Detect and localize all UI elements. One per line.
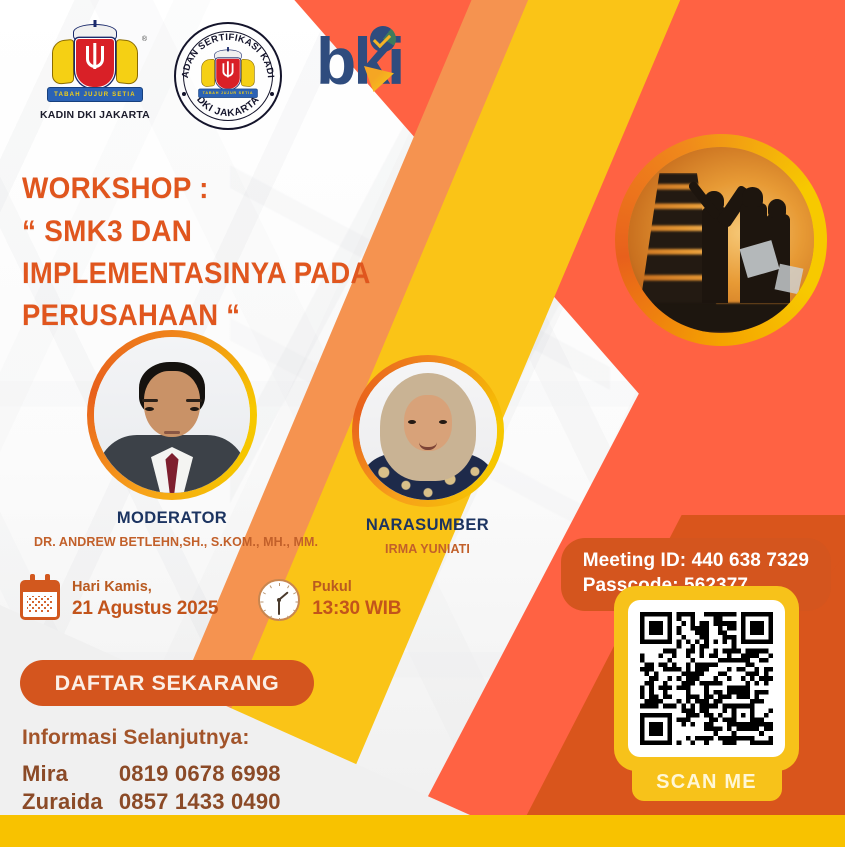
narasumber-photo <box>359 362 497 500</box>
contact-phone[interactable]: 0819 0678 6998 <box>119 760 281 788</box>
page-title: WORKSHOP : “ SMK3 DAN IMPLEMENTASINYA PA… <box>22 168 602 337</box>
clock-center-dot <box>277 598 281 602</box>
title-line-1: WORKSHOP : <box>22 168 561 211</box>
clock-tick <box>263 592 266 594</box>
narasumber-role-label: NARASUMBER <box>335 516 520 535</box>
clock-tick <box>293 609 296 611</box>
clock-tick <box>279 583 280 586</box>
contact-heading: Informasi Selanjutnya: <box>22 726 281 750</box>
date-text: Hari Kamis, 21 Agustus 2025 <box>72 578 218 622</box>
narasumber-avatar-ring <box>352 355 504 507</box>
bsk-crest-letter-u-icon <box>222 63 233 77</box>
meeting-id-line: Meeting ID: 440 638 7329 <box>583 548 809 573</box>
contact-name: Zuraida <box>22 788 119 816</box>
bki-logo: bki <box>316 28 402 94</box>
clock-tick <box>296 601 299 602</box>
moderator-eye-right <box>190 407 199 411</box>
date-value: 21 Agustus 2025 <box>72 597 218 622</box>
calendar-header-bar <box>23 583 57 592</box>
badan-sertifikasi-kadin-logo: BADAN SERTIFIKASI KADIN DKI JAKARTA TABA… <box>174 22 282 130</box>
contact-info-section: Informasi Selanjutnya: Mira 0819 0678 69… <box>22 726 281 816</box>
time-block: Pukul 13:30 WIB <box>258 578 401 622</box>
crest-letter-u-icon <box>86 46 104 68</box>
bsk-mini-crest-icon: TABAH JUJUR SETIA <box>197 48 259 100</box>
scan-me-label: SCAN ME <box>632 766 782 801</box>
table-row: Zuraida 0857 1433 0490 <box>22 788 281 816</box>
narasumber-name: IRMA YUNIATI <box>335 542 520 556</box>
clock-tick <box>263 609 266 611</box>
qr-section[interactable]: SCAN ME <box>610 586 803 801</box>
bottom-yellow-bar <box>0 815 845 847</box>
blueprint-sheet-2 <box>774 264 803 294</box>
logo-row: ® TABAH JUJUR SETIA KADIN DKI JAKARTA BA… <box>40 22 402 130</box>
contact-phone[interactable]: 0857 1433 0490 <box>119 788 281 816</box>
clock-tick <box>293 592 296 594</box>
ground-silhouette <box>628 303 814 333</box>
bsk-crest-motto-banner: TABAH JUJUR SETIA <box>198 89 258 98</box>
moderator-mouth <box>164 431 180 434</box>
clock-tick <box>270 585 272 588</box>
clock-tick <box>261 601 264 602</box>
title-line-2: “ SMK3 DAN <box>22 211 561 254</box>
moderator-avatar-ring <box>87 330 257 500</box>
time-value: 13:30 WIB <box>312 597 401 622</box>
kadin-logo-caption: KADIN DKI JAKARTA <box>40 109 150 121</box>
clock-tick <box>270 615 272 618</box>
calendar-grid <box>27 596 53 613</box>
title-line-3: IMPLEMENTASINYA PADA PERUSAHAAN “ <box>22 253 561 337</box>
qr-code-frame[interactable] <box>628 600 785 757</box>
date-label: Hari Kamis, <box>72 578 218 597</box>
moderator-role-label: MODERATOR <box>72 509 272 528</box>
kadin-crest-icon: ® TABAH JUJUR SETIA <box>45 22 145 106</box>
crest-lion-right-icon <box>116 39 138 85</box>
crest-lion-left-icon <box>52 39 74 85</box>
table-row: Mira 0819 0678 6998 <box>22 760 281 788</box>
construction-workers-photo-ring <box>615 134 827 346</box>
clock-tick <box>279 618 280 621</box>
moderator-brow-left <box>142 399 158 402</box>
moderator-card: MODERATOR DR. ANDREW BETLEHN,SH., S.KOM.… <box>72 330 272 549</box>
clock-icon <box>258 579 300 621</box>
schedule-section: Hari Kamis, 21 Agustus 2025 <box>20 578 401 622</box>
crest-shield-icon <box>75 38 115 88</box>
time-text: Pukul 13:30 WIB <box>312 578 401 622</box>
avatar <box>94 337 250 493</box>
contact-name: Mira <box>22 760 119 788</box>
construction-workers-photo <box>628 147 814 333</box>
bsk-crest-shield-icon <box>216 58 241 89</box>
crest-motto-banner: TABAH JUJUR SETIA <box>47 87 143 102</box>
clock-minute-hand <box>278 600 280 615</box>
time-label: Pukul <box>312 578 401 597</box>
date-block: Hari Kamis, 21 Agustus 2025 <box>20 578 218 622</box>
narasumber-eye-right <box>439 420 447 424</box>
avatar <box>359 362 497 500</box>
clock-tick <box>287 615 289 618</box>
narasumber-card: NARASUMBER IRMA YUNIATI <box>335 355 520 556</box>
moderator-face <box>144 371 200 437</box>
bsk-crest-lion-left-icon <box>201 59 215 88</box>
bsk-crest-lion-right-icon <box>241 59 255 88</box>
calendar-icon <box>20 580 60 620</box>
qr-code-icon[interactable] <box>640 612 773 745</box>
registered-mark: ® <box>142 36 147 43</box>
worker-figure-1 <box>702 207 728 304</box>
moderator-brow-right <box>186 399 202 402</box>
daftar-sekarang-button[interactable]: DAFTAR SEKARANG <box>20 660 314 706</box>
moderator-photo <box>94 337 250 493</box>
kadin-dki-jakarta-logo: ® TABAH JUJUR SETIA KADIN DKI JAKARTA <box>40 22 150 121</box>
qr-card[interactable] <box>614 586 799 771</box>
clock-tick <box>287 585 289 588</box>
contact-table: Mira 0819 0678 6998 Zuraida 0857 1433 04… <box>22 760 281 816</box>
poster-canvas: ® TABAH JUJUR SETIA KADIN DKI JAKARTA BA… <box>0 0 845 847</box>
moderator-name: DR. ANDREW BETLEHN,SH., S.KOM., MH., MM. <box>34 535 272 549</box>
